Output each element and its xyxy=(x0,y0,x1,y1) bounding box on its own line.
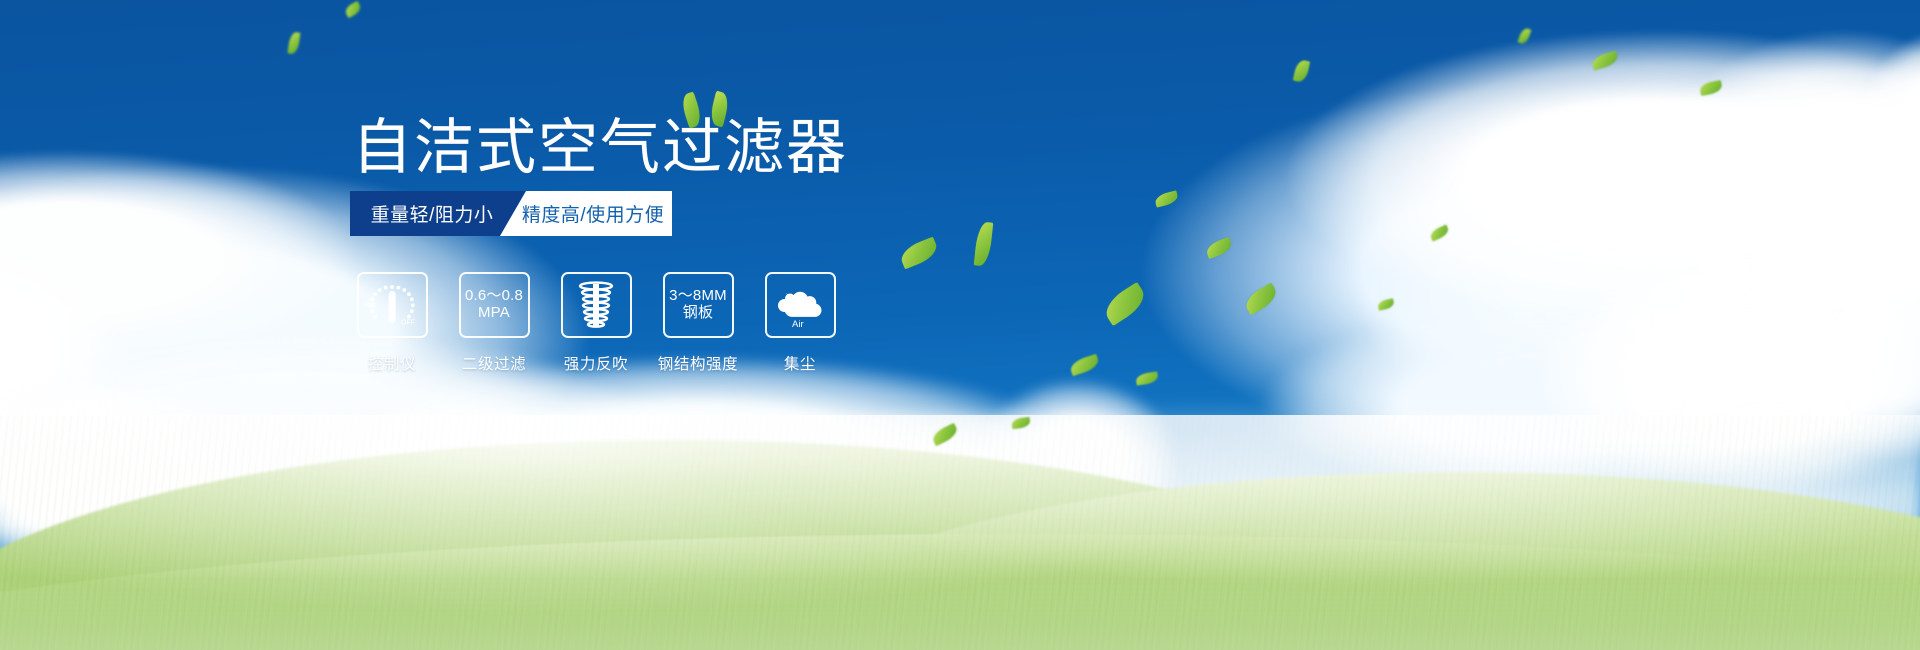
feature-label: 二级过滤 xyxy=(462,352,526,374)
badge-right-segment: 精度高/使用方便 xyxy=(500,191,672,236)
feature-label: 强力反吹 xyxy=(564,352,628,374)
page-title: 自洁式空气过滤器 xyxy=(352,118,848,178)
feature-icon-box: NO OFF xyxy=(357,272,428,338)
pressure-unit: MPA xyxy=(478,304,510,321)
feature-label: 集尘 xyxy=(784,352,816,374)
feature-label: 钢结构强度 xyxy=(658,352,739,374)
badge-left-segment: 重量轻/阻力小 xyxy=(350,191,526,236)
blowback-coil-icon xyxy=(571,279,621,331)
feature-icon-box xyxy=(561,272,632,338)
air-cloud-icon: Air xyxy=(772,280,828,330)
gauge-on-label: NO xyxy=(365,301,376,310)
feature-item-dust[interactable]: Air 集尘 xyxy=(763,272,837,374)
gauge-off-label: OFF xyxy=(401,320,415,327)
feature-list: NO OFF 控制仪 0.6～0.8 MPA 二级过滤 xyxy=(355,272,837,374)
feature-icon-box: 0.6～0.8 MPA xyxy=(459,272,530,338)
feature-item-blowback[interactable]: 强力反吹 xyxy=(559,272,633,374)
cloud-caption: Air xyxy=(792,319,804,330)
feature-item-pressure[interactable]: 0.6～0.8 MPA 二级过滤 xyxy=(457,272,531,374)
feature-badge: 重量轻/阻力小 精度高/使用方便 xyxy=(350,191,672,236)
steel-thickness: 3～8MM xyxy=(669,287,727,304)
steel-material: 钢板 xyxy=(683,304,713,321)
banner-content: 自洁式空气过滤器 重量轻/阻力小 精度高/使用方便 xyxy=(0,0,1920,650)
feature-item-steel[interactable]: 3～8MM 钢板 钢结构强度 xyxy=(661,272,735,374)
feature-icon-box: Air xyxy=(765,272,836,338)
steel-plate-text-icon: 3～8MM 钢板 xyxy=(669,288,727,322)
pressure-range: 0.6～0.8 xyxy=(465,287,523,304)
control-gauge-icon: NO OFF xyxy=(363,279,421,331)
feature-icon-box: 3～8MM 钢板 xyxy=(663,272,734,338)
feature-item-control[interactable]: NO OFF 控制仪 xyxy=(355,272,429,374)
feature-label: 控制仪 xyxy=(368,352,416,374)
pressure-text-icon: 0.6～0.8 MPA xyxy=(465,288,523,322)
hero-banner: 自洁式空气过滤器 重量轻/阻力小 精度高/使用方便 xyxy=(0,0,1920,650)
